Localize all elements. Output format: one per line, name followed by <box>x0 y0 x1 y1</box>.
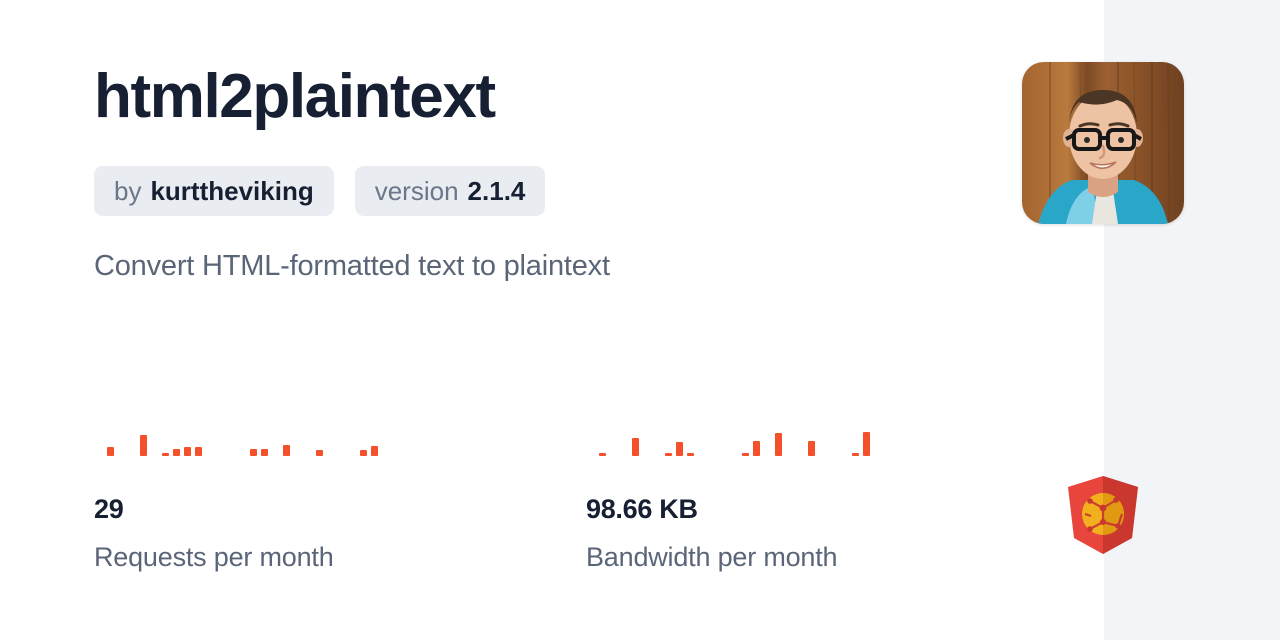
sparkline-bar <box>184 447 191 457</box>
author-badge: by kurttheviking <box>94 166 334 216</box>
sparkline-bar <box>195 447 202 457</box>
sparkline-bar <box>599 453 606 456</box>
version-badge: version 2.1.4 <box>355 166 546 216</box>
version-badge-value: 2.1.4 <box>468 178 526 204</box>
sparkline-bar <box>371 446 378 456</box>
requests-sparkline-chart <box>94 406 424 456</box>
avatar <box>1022 62 1184 224</box>
stat-requests: 29 Requests per month <box>94 406 424 571</box>
meta-badge-row: by kurttheviking version 2.1.4 <box>94 166 545 216</box>
package-stats-card: html2plaintext by kurttheviking version … <box>0 0 1280 640</box>
sparkline-bar <box>316 450 323 456</box>
sparkline-bar <box>852 453 859 456</box>
sparkline-bar <box>632 438 639 456</box>
requests-stat-label: Requests per month <box>94 544 424 571</box>
bandwidth-sparkline-chart <box>586 406 916 456</box>
sparkline-bar <box>140 435 147 456</box>
sparkline-bar <box>687 453 694 456</box>
sparkline-bar <box>676 442 683 456</box>
author-badge-label: by <box>114 178 141 204</box>
bandwidth-stat-value: 98.66 KB <box>586 496 916 523</box>
sparkline-bar <box>742 453 749 456</box>
author-badge-value: kurttheviking <box>150 178 313 204</box>
version-badge-label: version <box>375 178 459 204</box>
sparkline-bar <box>261 449 268 456</box>
jsdelivr-logo <box>1068 476 1138 554</box>
sparkline-bar <box>162 453 169 456</box>
sparkline-bar <box>665 453 672 456</box>
requests-stat-value: 29 <box>94 496 424 523</box>
sparkline-bar <box>863 432 870 457</box>
sparkline-bar <box>808 441 815 456</box>
sparkline-bar <box>173 449 180 456</box>
sparkline-bar <box>283 445 290 457</box>
sparkline-bar <box>360 450 367 456</box>
sparkline-bar <box>250 449 257 456</box>
sparkline-bar <box>753 441 760 457</box>
package-description: Convert HTML-formatted text to plaintext <box>94 250 610 283</box>
sparkline-bar <box>775 433 782 456</box>
stat-bandwidth: 98.66 KB Bandwidth per month <box>586 406 916 571</box>
sparkline-bar <box>107 447 114 457</box>
page-title: html2plaintext <box>94 62 495 131</box>
bandwidth-stat-label: Bandwidth per month <box>586 544 916 571</box>
